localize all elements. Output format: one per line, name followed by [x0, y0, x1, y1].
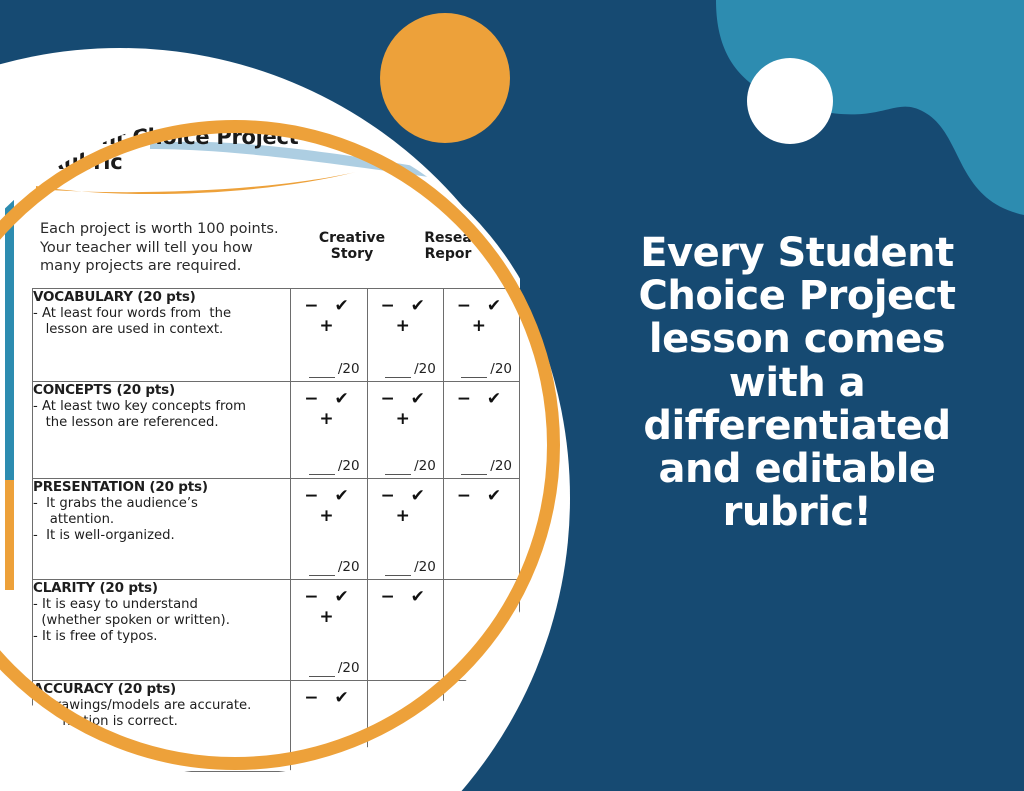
rubric-document: tudent Choice Project Rubric Each projec…	[0, 115, 520, 705]
criteria-cell-concepts: CONCEPTS (20 pts) - At least two key con…	[33, 382, 291, 479]
mark-options[interactable]: − ✔	[368, 580, 443, 607]
headline-line-2: Choice Project	[584, 275, 1010, 318]
criteria-cell-vocabulary: VOCABULARY (20 pts) - At least four word…	[33, 289, 291, 382]
score-cell-creative-story[interactable]: − ✔ + /20	[291, 580, 367, 681]
score-blank[interactable]: /20	[461, 361, 512, 377]
headline-line-3: lesson comes	[584, 318, 1010, 361]
score-cell-third[interactable]: − ✔ /20	[443, 382, 519, 479]
headline-line-4: with a	[584, 362, 1010, 405]
mark-options[interactable]: − ✔ +	[291, 289, 366, 336]
mark-options[interactable]: − ✔	[444, 382, 519, 409]
headline-line-5: differentiated	[584, 405, 1010, 448]
score-cell-third[interactable]: − ✔ + /20	[443, 289, 519, 382]
rubric-circle-clip: tudent Choice Project Rubric Each projec…	[0, 115, 565, 775]
headline-line-6: and editable	[584, 448, 1010, 491]
teal-wave-shape	[684, 0, 1024, 230]
rubric-column-headers: Creative Story Resea Repor	[32, 230, 502, 286]
score-cell-creative-story[interactable]: − ✔	[291, 681, 367, 772]
score-cell-creative-story[interactable]: − ✔ + /20	[291, 289, 367, 382]
slide-canvas: tudent Choice Project Rubric Each projec…	[0, 0, 1024, 791]
document-accent-bar-orange	[5, 480, 14, 590]
score-blank[interactable]: /20	[309, 660, 360, 676]
score-blank[interactable]: /20	[309, 458, 360, 474]
score-cell-third[interactable]: − ✔	[443, 479, 519, 580]
score-cell-third[interactable]	[443, 681, 519, 772]
headline-text: Every Student Choice Project lesson come…	[584, 232, 1010, 534]
mark-options[interactable]: − ✔ +	[368, 382, 443, 429]
mark-options[interactable]: − ✔ +	[291, 580, 366, 627]
score-cell-research-report[interactable]	[367, 681, 443, 772]
score-cell-creative-story[interactable]: − ✔ + /20	[291, 479, 367, 580]
orange-swoosh-decoration	[30, 170, 360, 200]
criteria-cell-presentation: PRESENTATION (20 pts) - It grabs the aud…	[33, 479, 291, 580]
score-cell-third[interactable]	[443, 580, 519, 681]
table-row: CONCEPTS (20 pts) - At least two key con…	[33, 382, 520, 479]
document-accent-bar-teal	[5, 180, 14, 480]
column-header-research-report: Resea Repor	[400, 230, 496, 262]
column-header-creative-story: Creative Story	[304, 230, 400, 262]
rubric-table: VOCABULARY (20 pts) - At least four word…	[32, 288, 520, 772]
table-row: PRESENTATION (20 pts) - It grabs the aud…	[33, 479, 520, 580]
criteria-cell-clarity: CLARITY (20 pts) - It is easy to underst…	[33, 580, 291, 681]
score-cell-creative-story[interactable]: − ✔ + /20	[291, 382, 367, 479]
mark-options[interactable]: − ✔ +	[368, 479, 443, 526]
score-cell-research-report[interactable]: − ✔ + /20	[367, 382, 443, 479]
rubric-title-line1: tudent Choice Project	[48, 125, 348, 150]
score-blank[interactable]: /20	[385, 361, 436, 377]
table-row: CLARITY (20 pts) - It is easy to underst…	[33, 580, 520, 681]
criteria-cell-accuracy: ACCURACY (20 pts) Drawings/models are ac…	[33, 681, 291, 772]
mark-options[interactable]: − ✔ +	[291, 479, 366, 526]
rubric-title: tudent Choice Project Rubric	[48, 125, 348, 175]
score-blank[interactable]: /20	[461, 458, 512, 474]
mark-options[interactable]: − ✔	[444, 479, 519, 506]
mark-options[interactable]: − ✔ +	[444, 289, 519, 336]
score-blank[interactable]: /20	[385, 458, 436, 474]
mark-options[interactable]: − ✔	[291, 681, 366, 708]
score-blank[interactable]: /20	[309, 559, 360, 575]
table-row: ACCURACY (20 pts) Drawings/models are ac…	[33, 681, 520, 772]
score-cell-research-report[interactable]: − ✔ + /20	[367, 479, 443, 580]
white-circle-decoration	[747, 58, 833, 144]
mark-options[interactable]: − ✔ +	[368, 289, 443, 336]
table-row: VOCABULARY (20 pts) - At least four word…	[33, 289, 520, 382]
score-blank[interactable]: /20	[309, 361, 360, 377]
score-blank[interactable]: /20	[385, 559, 436, 575]
score-cell-research-report[interactable]: − ✔ + /20	[367, 289, 443, 382]
headline-line-1: Every Student	[584, 232, 1010, 275]
mark-options[interactable]: − ✔ +	[291, 382, 366, 429]
headline-line-7: rubric!	[584, 491, 1010, 534]
score-cell-research-report[interactable]: − ✔	[367, 580, 443, 681]
